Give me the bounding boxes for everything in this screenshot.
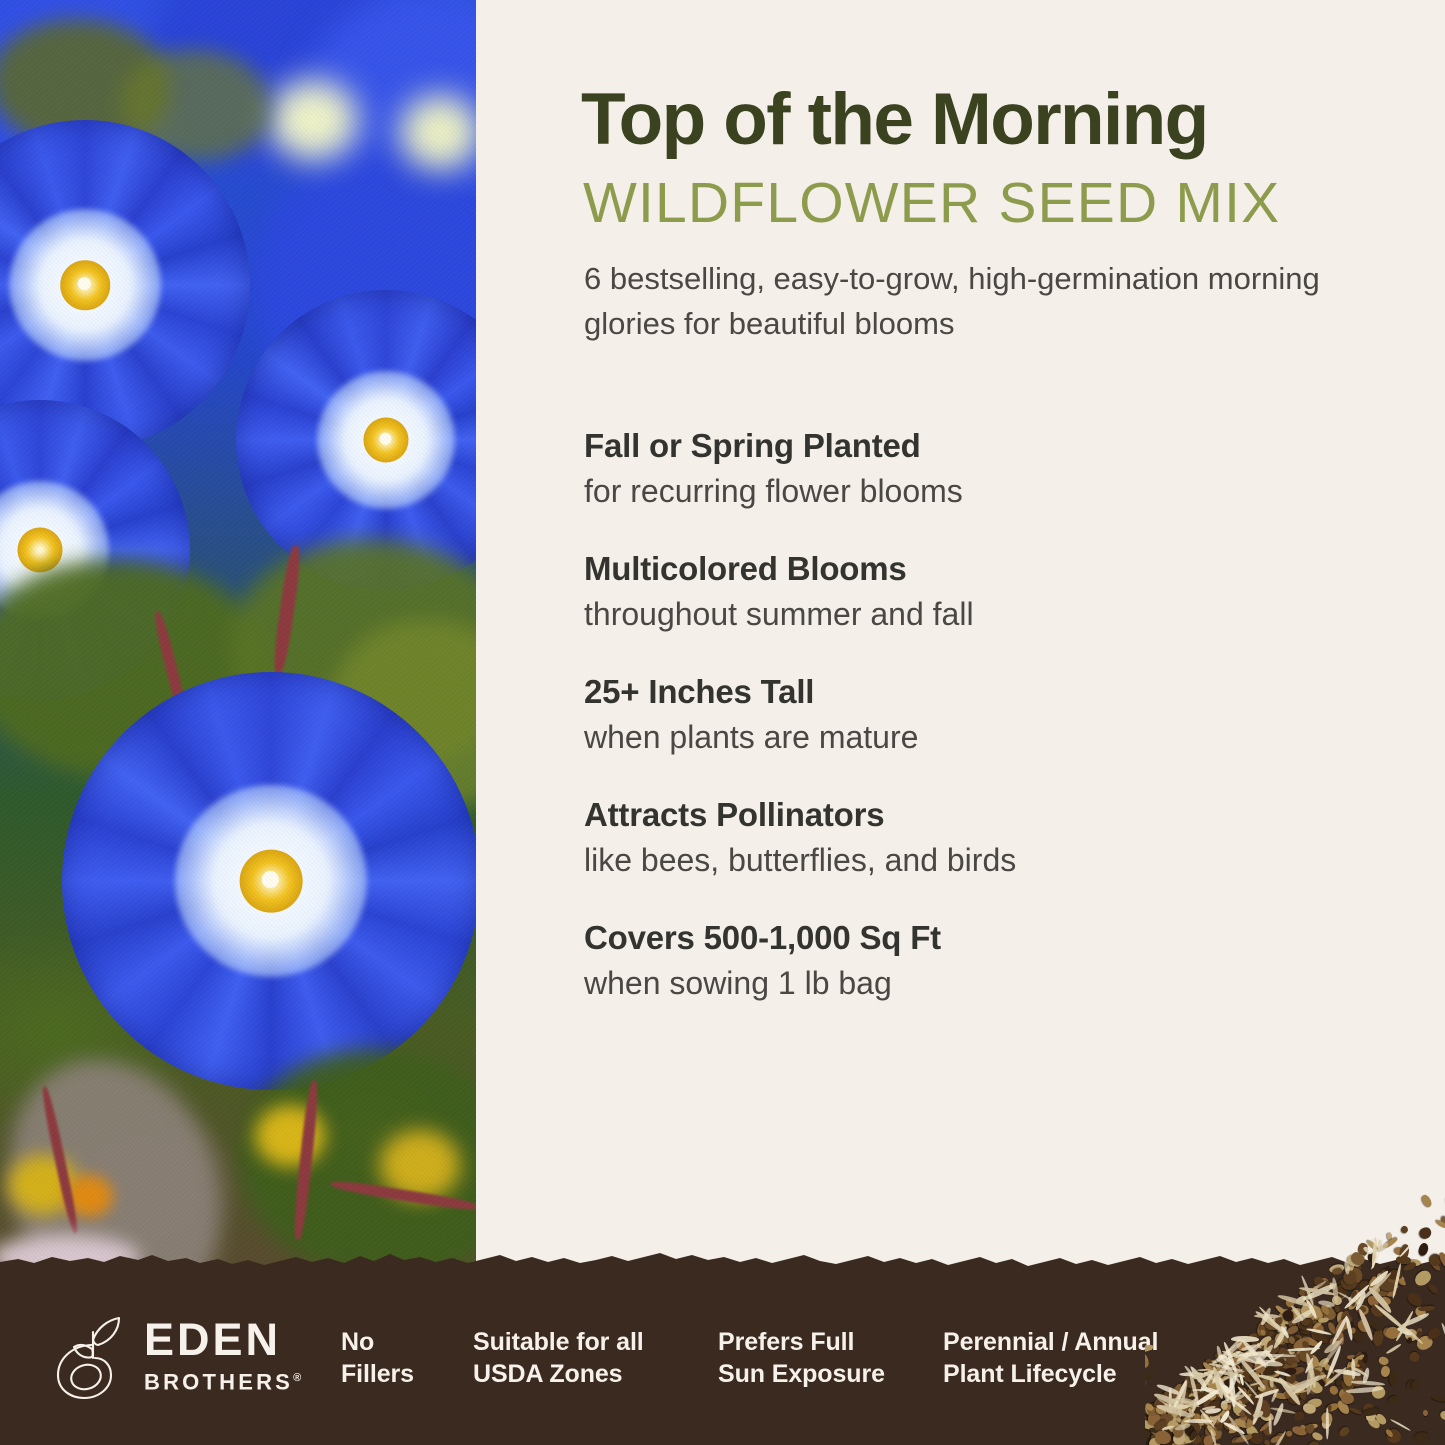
footer-badge-line2: USDA Zones <box>473 1358 644 1390</box>
feature-title: Attracts Pollinators <box>584 793 1384 837</box>
footer-badge-line2: Sun Exposure <box>718 1358 885 1390</box>
feature-title: Multicolored Blooms <box>584 547 1384 591</box>
footer-badge-line1: No <box>341 1326 414 1358</box>
footer-badge-line1: Prefers Full <box>718 1326 885 1358</box>
feature-item: Multicolored Blooms throughout summer an… <box>584 547 1384 637</box>
feature-item: Attracts Pollinators like bees, butterfl… <box>584 793 1384 883</box>
footer-badge-line2: Fillers <box>341 1358 414 1390</box>
feature-list: Fall or Spring Planted for recurring flo… <box>584 424 1384 1039</box>
feature-item: Fall or Spring Planted for recurring flo… <box>584 424 1384 514</box>
feature-item: Covers 500-1,000 Sq Ft when sowing 1 lb … <box>584 916 1384 1006</box>
page-title: Top of the Morning <box>581 80 1431 159</box>
feature-subtitle: like bees, butterflies, and birds <box>584 837 1384 883</box>
feature-title: 25+ Inches Tall <box>584 670 1384 714</box>
footer-badge: No Fillers <box>341 1326 414 1390</box>
infographic-page: Top of the Morning WILDFLOWER SEED MIX 6… <box>0 0 1445 1445</box>
product-subtitle: WILDFLOWER SEED MIX <box>583 172 1443 234</box>
footer-badge: Suitable for all USDA Zones <box>473 1326 644 1390</box>
feature-subtitle: when sowing 1 lb bag <box>584 960 1384 1006</box>
feature-title: Covers 500-1,000 Sq Ft <box>584 916 1384 960</box>
footer-bar: EDEN BROTHERS® No Fillers Suitable for a… <box>0 1270 1445 1445</box>
footer-badge-line1: Perennial / Annual <box>943 1326 1158 1358</box>
feature-item: 25+ Inches Tall when plants are mature <box>584 670 1384 760</box>
footer-badge: Prefers Full Sun Exposure <box>718 1326 885 1390</box>
footer-badge: Perennial / Annual Plant Lifecycle <box>943 1326 1158 1390</box>
footer-badge-line1: Suitable for all <box>473 1326 644 1358</box>
feature-subtitle: for recurring flower blooms <box>584 468 1384 514</box>
feature-title: Fall or Spring Planted <box>584 424 1384 468</box>
feature-subtitle: throughout summer and fall <box>584 591 1384 637</box>
product-description: 6 bestselling, easy-to-grow, high-germin… <box>584 256 1364 346</box>
content-panel: Top of the Morning WILDFLOWER SEED MIX 6… <box>476 0 1445 1290</box>
footer-badge-line2: Plant Lifecycle <box>943 1358 1158 1390</box>
photo-grain <box>0 0 476 1290</box>
feature-subtitle: when plants are mature <box>584 714 1384 760</box>
hero-photo <box>0 0 476 1290</box>
footer-badges: No Fillers Suitable for all USDA Zones P… <box>0 1270 1445 1445</box>
